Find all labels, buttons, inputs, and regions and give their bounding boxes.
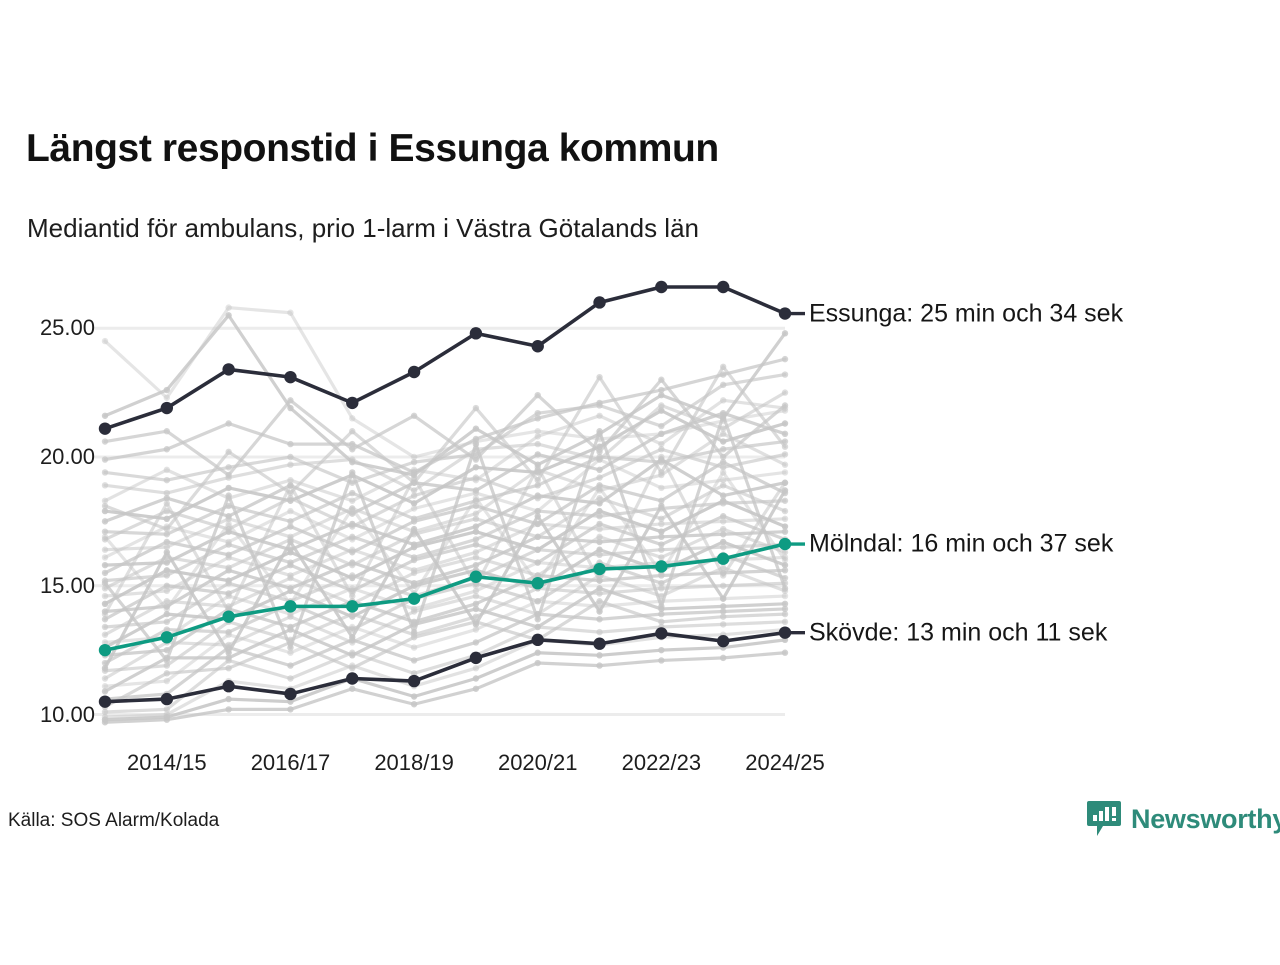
series-label-skövde: Skövde: 13 min och 11 sek <box>809 618 1107 647</box>
x-axis-tick-label: 2016/17 <box>251 750 331 776</box>
x-axis-tick-label: 2018/19 <box>374 750 454 776</box>
x-axis-tick-label: 2014/15 <box>127 750 207 776</box>
series-label-essunga: Essunga: 25 min och 34 sek <box>809 299 1123 328</box>
source-note: Källa: SOS Alarm/Kolada <box>8 810 219 832</box>
y-axis-tick-label: 25.00 <box>9 315 95 341</box>
y-axis-tick-label: 15.00 <box>9 573 95 599</box>
x-axis-tick-label: 2024/25 <box>745 750 825 776</box>
newsworthy-logo: Newsworthy <box>1086 800 1280 838</box>
y-axis-tick-label: 20.00 <box>9 444 95 470</box>
y-axis-tick-label: 10.00 <box>9 702 95 728</box>
series-label-mölndal: Mölndal: 16 min och 37 sek <box>809 530 1113 559</box>
newsworthy-wordmark: Newsworthy <box>1131 804 1280 835</box>
chart-root: Längst responstid i Essunga kommun Media… <box>0 0 1280 960</box>
newsworthy-bubble-chart-icon <box>1086 800 1122 838</box>
x-axis-tick-label: 2022/23 <box>622 750 702 776</box>
x-axis-tick-label: 2020/21 <box>498 750 578 776</box>
